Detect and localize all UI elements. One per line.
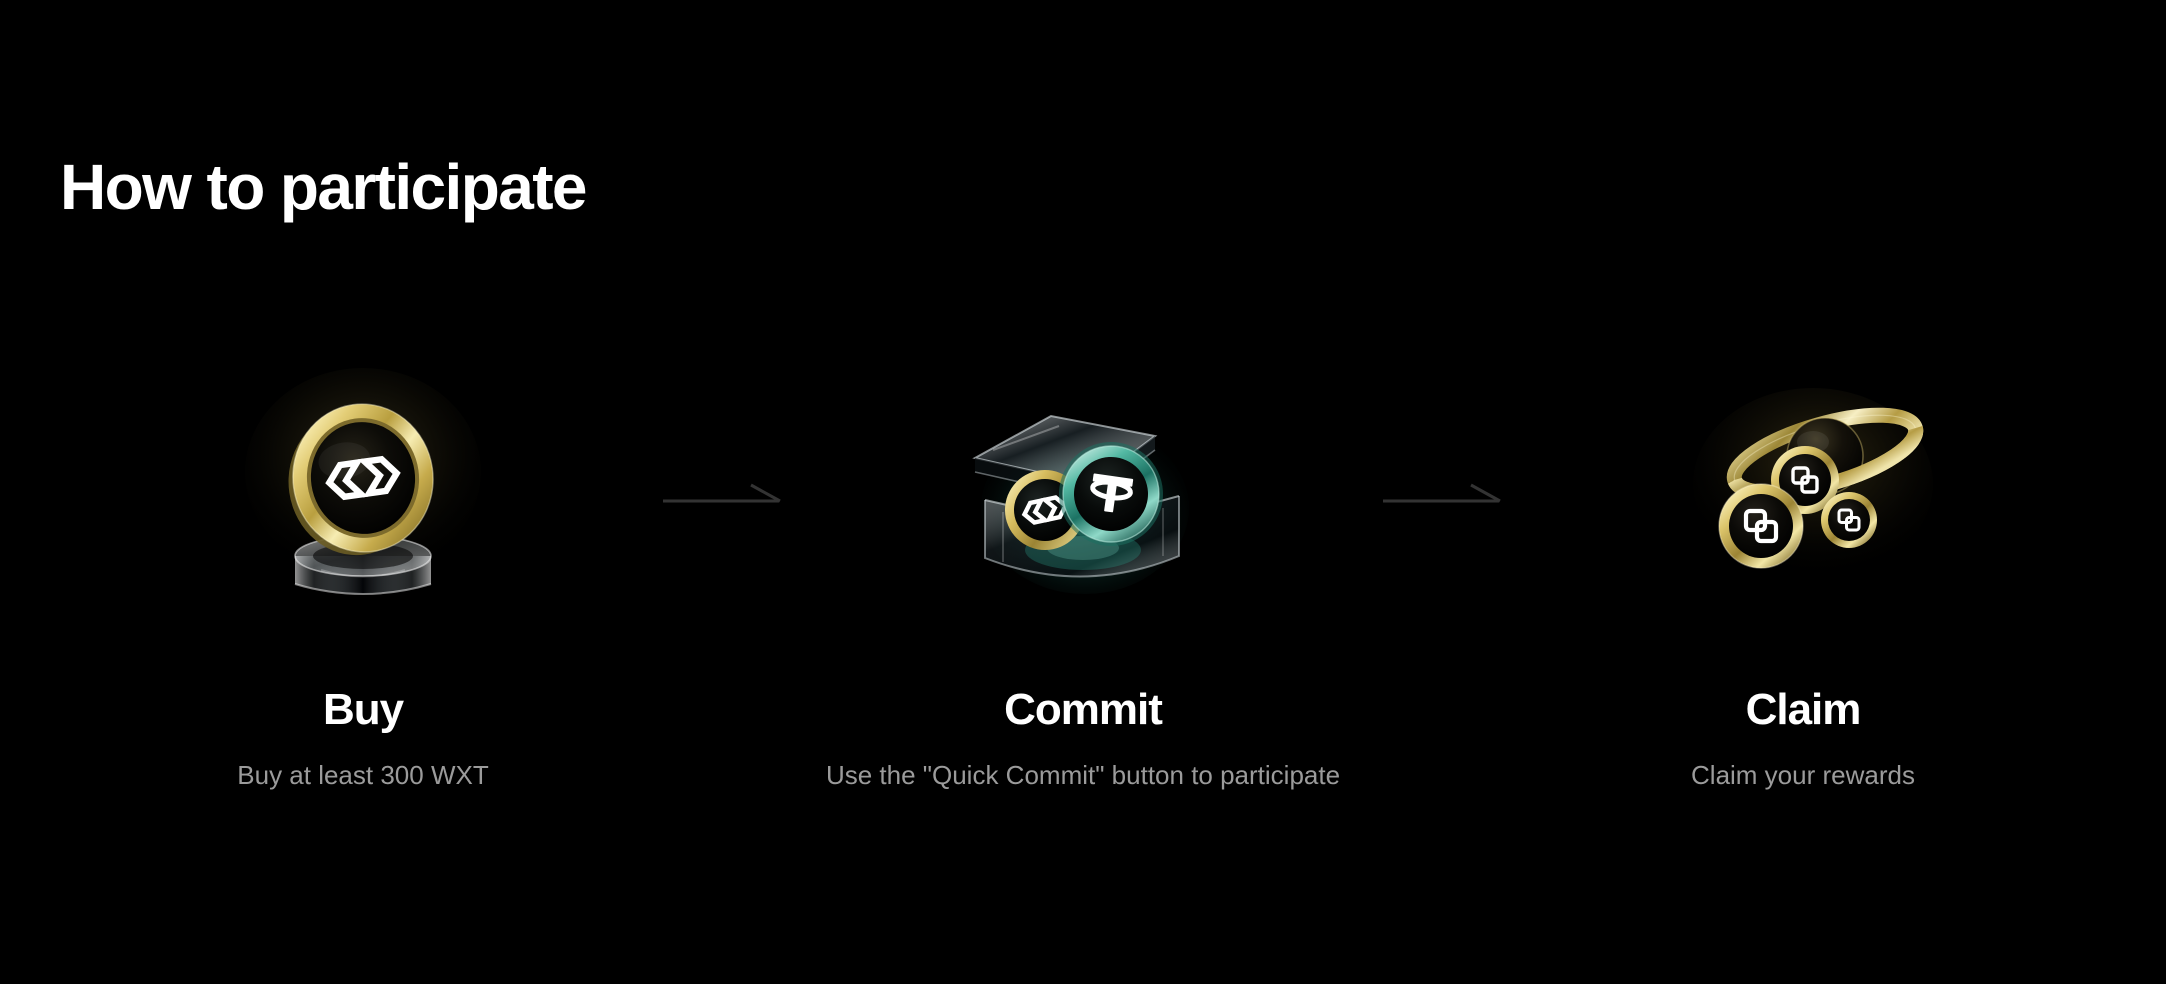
step-buy: Buy Buy at least 300 WXT [83, 380, 643, 791]
step-claim: Claim Claim your rewards [1523, 380, 2083, 791]
step-title: Claim [1746, 688, 1861, 732]
arrow-right-icon [1383, 480, 1503, 510]
steps-row: Buy Buy at least 300 WXT [0, 380, 2166, 900]
page-title: How to participate [60, 152, 586, 222]
step-title: Commit [1004, 688, 1162, 732]
step-description: Buy at least 300 WXT [237, 760, 488, 791]
arrow-right-icon [663, 480, 783, 510]
buy-step-illustration [213, 380, 513, 610]
step-commit: Commit Use the "Quick Commit" button to … [803, 380, 1363, 791]
claim-coin-small [1821, 492, 1877, 548]
how-to-participate-section: How to participate [0, 0, 2166, 984]
step-title: Buy [323, 688, 403, 732]
step-connector [643, 380, 803, 610]
step-connector [1363, 380, 1523, 610]
claim-coin-large [1719, 484, 1803, 568]
claim-step-illustration [1653, 380, 1953, 610]
commit-step-illustration [933, 380, 1233, 610]
step-description: Use the "Quick Commit" button to partici… [826, 760, 1340, 791]
step-description: Claim your rewards [1691, 760, 1915, 791]
